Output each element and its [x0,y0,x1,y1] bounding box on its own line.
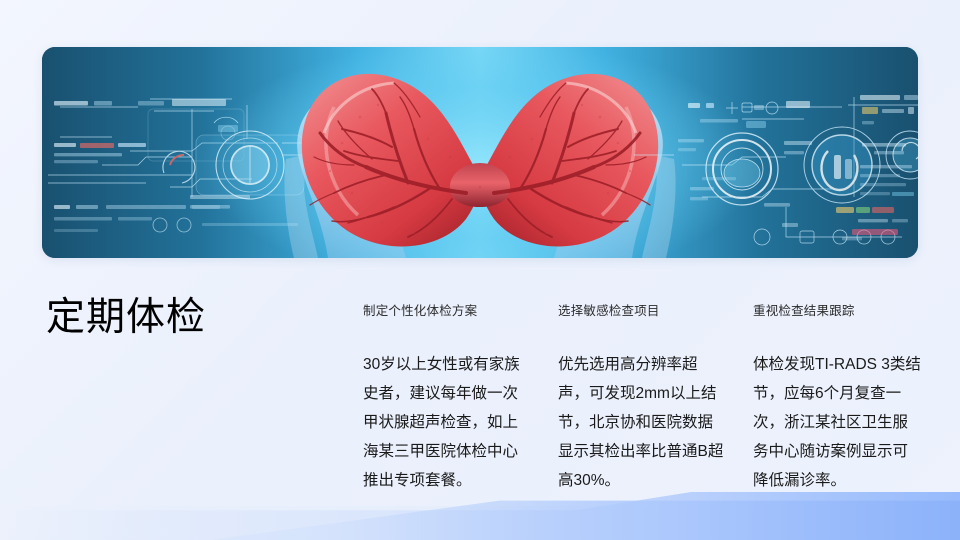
column-2: 选择敏感检查项目 优先选用高分辨率超声，可发现2mm以上结节，北京协和医院数据显… [558,303,753,495]
column-1: 制定个性化体检方案 30岁以上女性或有家族史者，建议每年做一次甲状腺超声检查，如… [363,303,558,495]
bottom-diagonal-band-back [0,492,960,540]
bottom-wash-decoration [0,506,960,540]
bottom-diagonal-band-front [0,492,960,540]
hero-banner-image [42,47,918,258]
column-3: 重视检查结果跟踪 体检发现TI-RADS 3类结节，应每6个月复查一次，浙江某社… [753,303,928,495]
column-3-heading: 重视检查结果跟踪 [753,303,928,319]
column-1-heading: 制定个性化体检方案 [363,303,558,319]
column-2-body: 优先选用高分辨率超声，可发现2mm以上结节，北京协和医院数据显示其检出率比普通B… [558,350,726,495]
column-3-body: 体检发现TI-RADS 3类结节，应每6个月复查一次，浙江某社区卫生服务中心随访… [753,350,921,495]
content-columns: 制定个性化体检方案 30岁以上女性或有家族史者，建议每年做一次甲状腺超声检查，如… [363,303,923,495]
column-1-body: 30岁以上女性或有家族史者，建议每年做一次甲状腺超声检查，如上海某三甲医院体检中… [363,350,531,495]
slide-canvas: 定期体检 制定个性化体检方案 30岁以上女性或有家族史者，建议每年做一次甲状腺超… [0,0,960,540]
thyroid-illustration-svg [42,47,918,258]
column-2-heading: 选择敏感检查项目 [558,303,753,319]
page-title: 定期体检 [46,297,206,340]
